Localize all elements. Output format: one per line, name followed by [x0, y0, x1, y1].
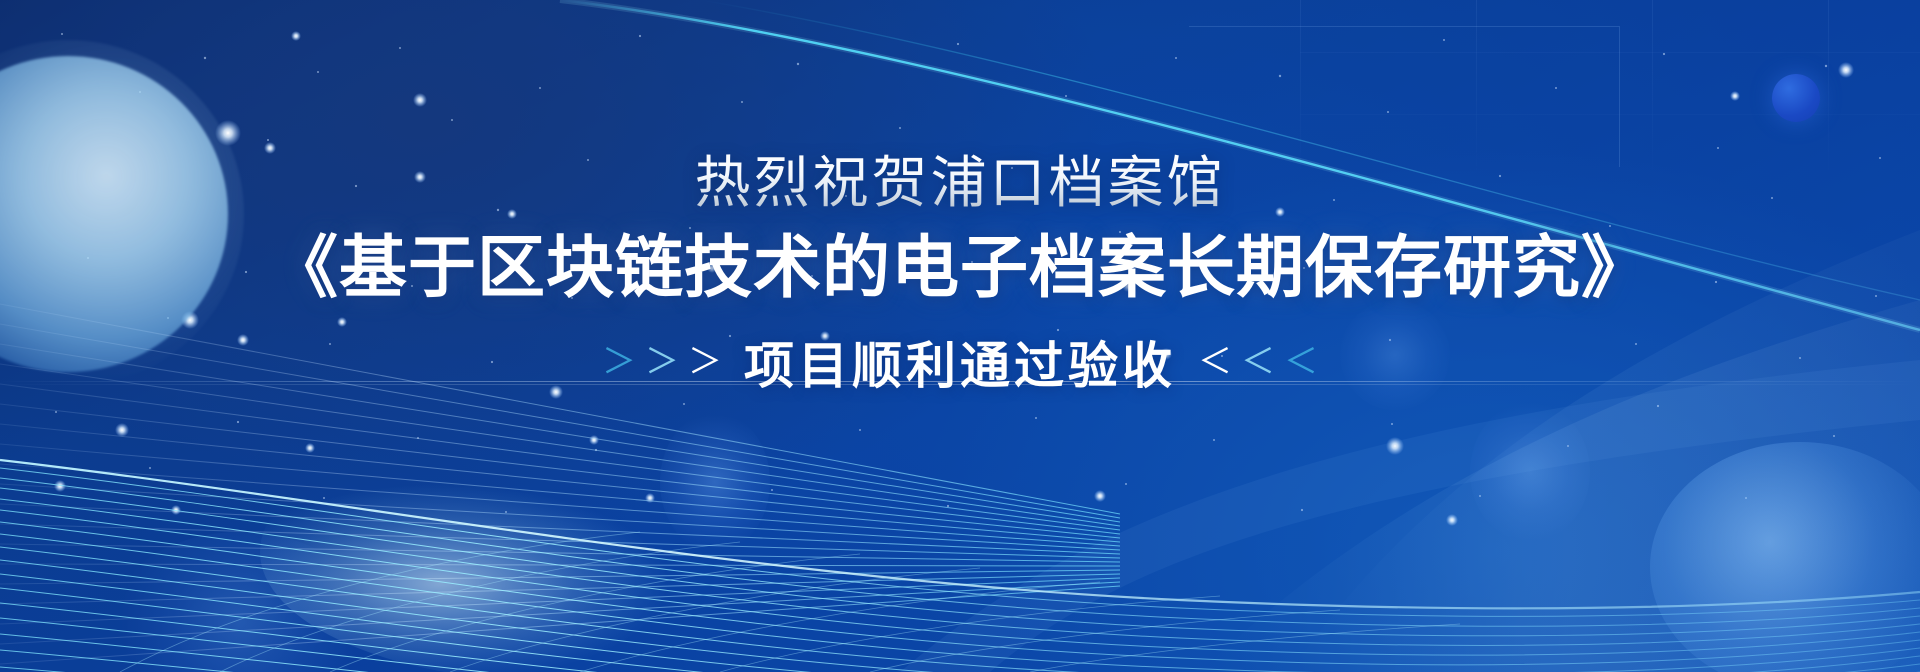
headline-block: 热烈祝贺浦口档案馆 《基于区块链技术的电子档案长期保存研究》 ＞ ＞ ＞ 项目顺…	[0, 150, 1920, 398]
glow-blob-center	[660, 412, 770, 552]
glow-blob-right	[1470, 402, 1590, 542]
chevron-left-icon-2: ＜	[1241, 345, 1275, 379]
headline-line-3: 项目顺利通过验收	[744, 326, 1176, 398]
chevron-left-icon-3: ＜	[1284, 345, 1318, 379]
chevron-right-icon-2: ＞	[645, 345, 679, 379]
glow-blob-bottom-left	[110, 532, 370, 672]
glow-blob-bottom-right	[1650, 442, 1920, 672]
chevron-right-icon-1: ＞	[602, 345, 636, 379]
banner-canvas: 热烈祝贺浦口档案馆 《基于区块链技术的电子档案长期保存研究》 ＞ ＞ ＞ 项目顺…	[0, 0, 1920, 672]
headline-line-2: 《基于区块链技术的电子档案长期保存研究》	[0, 228, 1920, 310]
chevron-left-icon-1: ＜	[1198, 345, 1232, 379]
tech-grid-outline	[1189, 26, 1620, 167]
headline-line-3-row: ＞ ＞ ＞ 项目顺利通过验收 ＜ ＜ ＜	[0, 326, 1920, 398]
circle-decoration	[1772, 74, 1820, 122]
headline-line-1: 热烈祝贺浦口档案馆	[0, 150, 1920, 216]
chevron-right-group-icon: ＞ ＞ ＞	[602, 345, 722, 379]
chevron-left-group-icon: ＜ ＜ ＜	[1198, 345, 1318, 379]
chevron-right-icon-3: ＞	[688, 345, 722, 379]
